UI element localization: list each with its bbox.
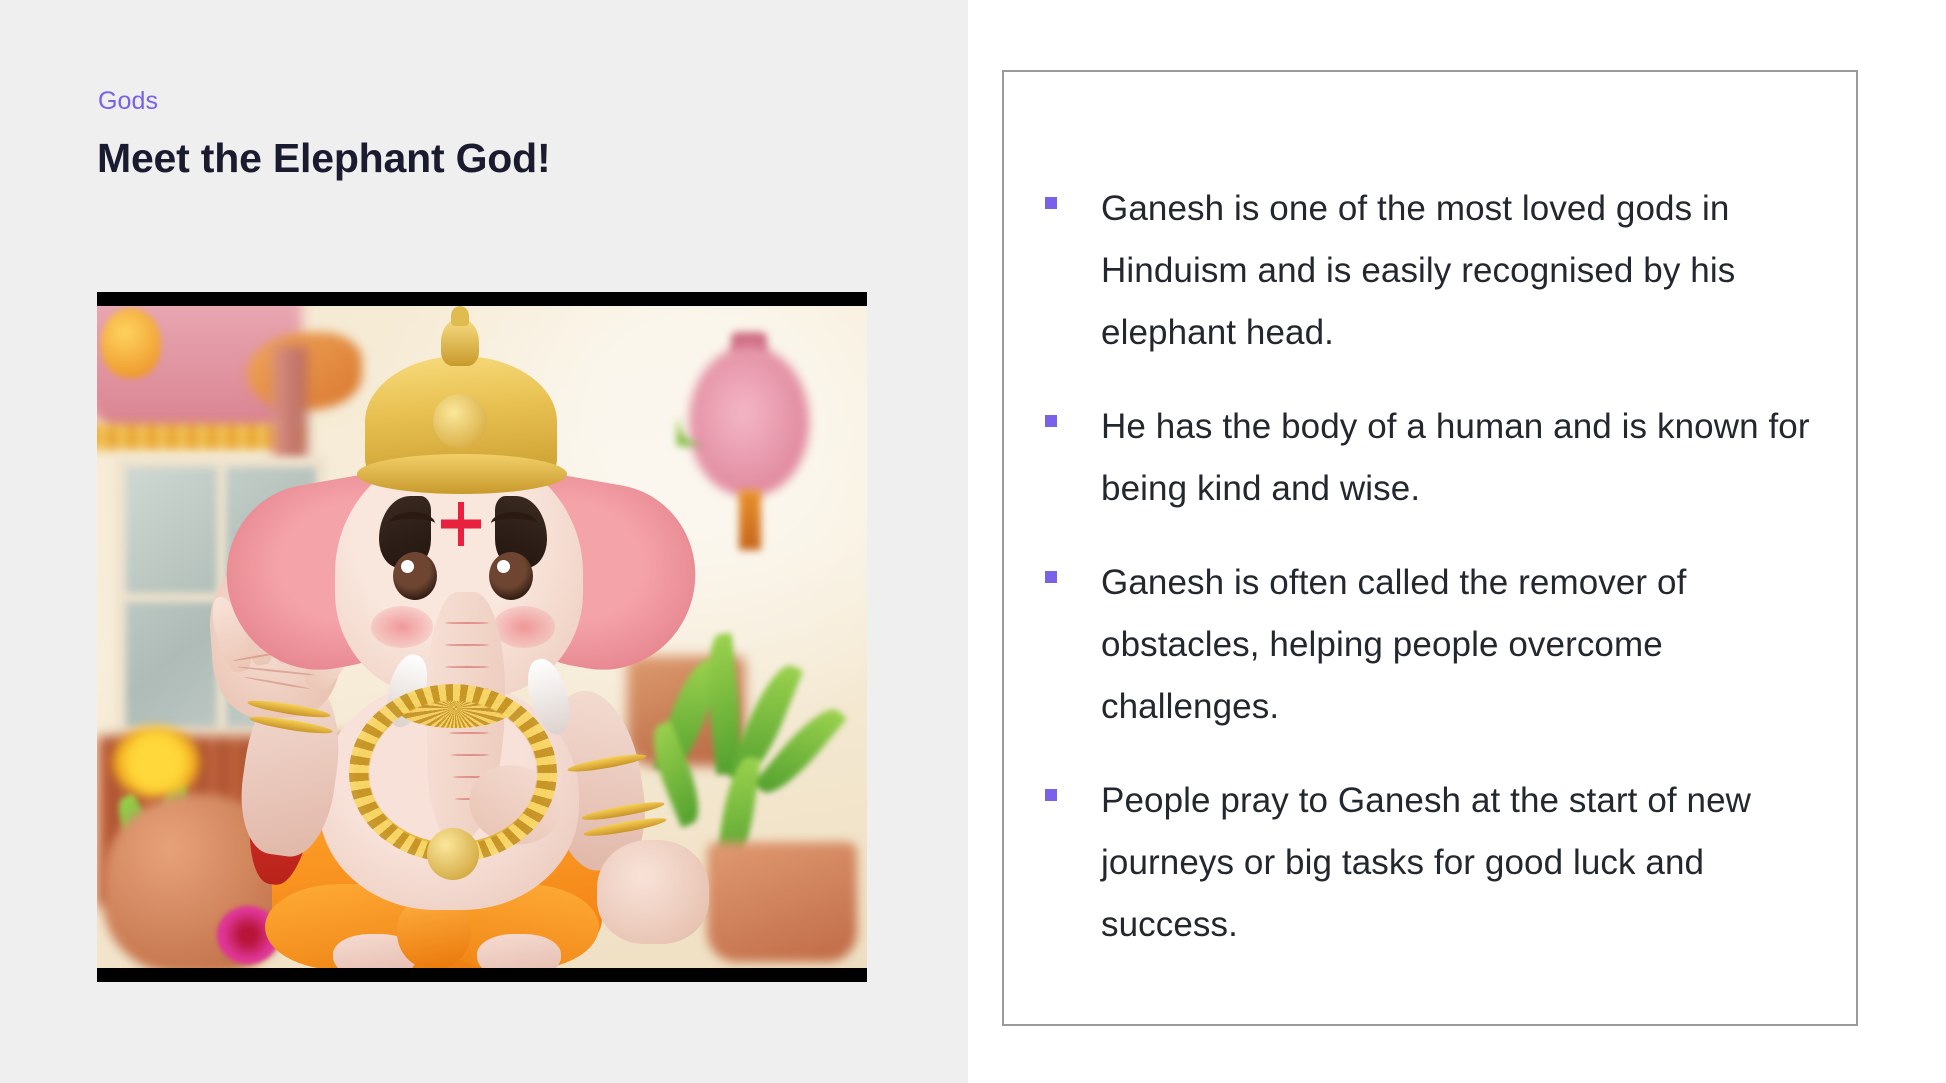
left-content-panel: Gods Meet the Elephant God! bbox=[0, 0, 968, 1083]
bullet-list: Ganesh is one of the most loved gods in … bbox=[1045, 178, 1835, 956]
illustration-frame bbox=[97, 292, 867, 982]
list-item: Ganesh is often called the remover of ob… bbox=[1045, 552, 1835, 738]
crown-tip bbox=[451, 306, 469, 326]
list-item: He has the body of a human and is known … bbox=[1045, 396, 1835, 520]
ganesh-figure bbox=[97, 306, 867, 968]
list-item-text: Ganesh is one of the most loved gods in … bbox=[1101, 178, 1835, 364]
list-item-text: Ganesh is often called the remover of ob… bbox=[1101, 552, 1835, 738]
list-item: People pray to Ganesh at the start of ne… bbox=[1045, 770, 1835, 956]
square-bullet-icon bbox=[1045, 197, 1057, 209]
list-item: Ganesh is one of the most loved gods in … bbox=[1045, 178, 1835, 364]
cheek-left bbox=[371, 606, 433, 648]
ganesh-illustration bbox=[97, 306, 867, 968]
hand-right-fist bbox=[597, 840, 709, 944]
square-bullet-icon bbox=[1045, 571, 1057, 583]
square-bullet-icon bbox=[1045, 789, 1057, 801]
list-item-text: He has the body of a human and is known … bbox=[1101, 396, 1835, 520]
list-item-text: People pray to Ganesh at the start of ne… bbox=[1101, 770, 1835, 956]
cheek-right bbox=[493, 606, 555, 648]
category-eyebrow: Gods bbox=[98, 86, 158, 116]
eye-left bbox=[393, 552, 437, 600]
eyebrow-right bbox=[491, 512, 537, 535]
tilak-mark bbox=[441, 502, 481, 546]
square-bullet-icon bbox=[1045, 415, 1057, 427]
crown-brim bbox=[357, 454, 567, 494]
crown-jewel bbox=[433, 394, 487, 448]
page-title: Meet the Elephant God! bbox=[97, 133, 550, 183]
necklace-pendant bbox=[427, 828, 479, 880]
foot-right bbox=[477, 934, 561, 968]
eye-right bbox=[489, 552, 533, 600]
eyebrow-left bbox=[389, 512, 435, 535]
